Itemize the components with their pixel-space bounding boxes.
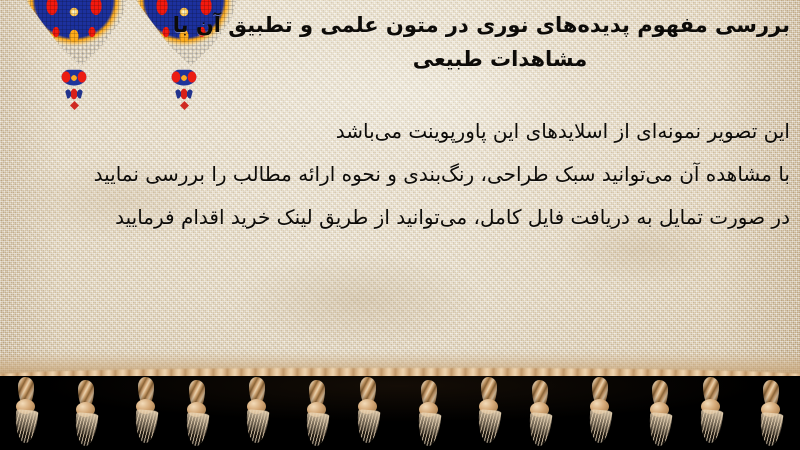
tassel-wisp: [305, 412, 330, 447]
tassel: [73, 380, 99, 446]
slide-title-line-1: بررسی مفهوم پدیده‌های نوری در متون علمی …: [210, 8, 790, 42]
tassel-wisp: [648, 412, 673, 447]
tassel: [304, 380, 330, 446]
slide-body: این تصویر نمونه‌ای از اسلایدهای این پاور…: [8, 110, 790, 239]
tassel-wisp: [356, 409, 381, 444]
tassel-wisp: [759, 412, 784, 447]
persian-medallion-ornament-left: [18, 0, 130, 84]
tassel: [476, 377, 502, 443]
tassel-wisp: [416, 412, 441, 447]
tassel-wisp: [133, 409, 158, 444]
slide-title-line-2: مشاهدات طبیعی: [210, 42, 790, 76]
tassel: [13, 377, 39, 443]
medallion-pixel-grid: [18, 0, 130, 70]
tassel: [355, 377, 381, 443]
slide-title: بررسی مفهوم پدیده‌های نوری در متون علمی …: [210, 8, 790, 76]
tassel: [527, 380, 553, 446]
tassel-wisp: [185, 412, 210, 447]
carpet-tassel-fringe: [0, 376, 800, 450]
tassel: [647, 380, 673, 446]
tassel: [698, 377, 724, 443]
tassel: [587, 377, 613, 443]
tassel: [758, 380, 784, 446]
tassel: [184, 380, 210, 446]
slide-body-line-3: در صورت تمایل به دریافت فایل کامل، می‌تو…: [8, 196, 790, 239]
tassel-wisp: [13, 409, 38, 444]
tassel: [244, 377, 270, 443]
slide-body-line-1: این تصویر نمونه‌ای از اسلایدهای این پاور…: [8, 110, 790, 153]
tassel-wisp: [245, 409, 270, 444]
tassel-wisp: [527, 412, 552, 447]
tassel: [133, 377, 159, 443]
slide-canvas: بررسی مفهوم پدیده‌های نوری در متون علمی …: [0, 0, 800, 450]
tassel: [416, 380, 442, 446]
tassel-wisp: [588, 409, 613, 444]
tassel-wisp: [476, 409, 501, 444]
slide-body-line-2: با مشاهده آن می‌توانید سبک طراحی، رنگ‌بن…: [8, 153, 790, 196]
tassel-wisp: [73, 412, 98, 447]
tassel-wisp: [699, 409, 724, 444]
